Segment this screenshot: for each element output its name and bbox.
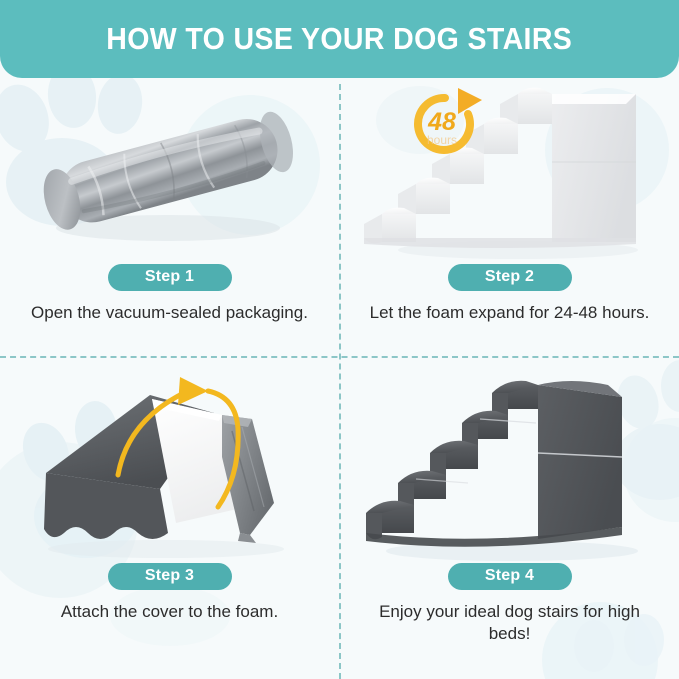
step-3-badge: Step 3	[108, 563, 232, 590]
cover-flap	[222, 415, 274, 535]
step-4-illustration	[340, 357, 679, 563]
timer-unit: hours	[427, 133, 457, 147]
foam-step-1	[364, 208, 416, 244]
divider-horizontal	[0, 356, 679, 358]
step-1-badge: Step 1	[108, 264, 232, 291]
step-2-illustration: 48 hours	[340, 78, 679, 264]
header-banner: HOW TO USE YOUR DOG STAIRS	[0, 0, 679, 78]
step-2-badge: Step 2	[448, 264, 572, 291]
stair-step-1	[366, 501, 414, 540]
divider-vertical	[339, 84, 341, 679]
step-1-caption: Open the vacuum-sealed packaging.	[25, 302, 315, 324]
stair-step-3	[430, 441, 478, 478]
step-panel-4: Step 4 Enjoy your ideal dog stairs for h…	[340, 357, 679, 679]
page-title: HOW TO USE YOUR DOG STAIRS	[107, 21, 573, 57]
stair-step-2	[398, 471, 468, 508]
step-3-illustration	[0, 357, 339, 563]
timer-48-hours-icon: 48 hours	[402, 84, 488, 156]
timer-number: 48	[427, 108, 456, 136]
step-panel-3: Step 3 Attach the cover to the foam.	[0, 357, 339, 679]
step-4-caption: Enjoy your ideal dog stairs for high bed…	[365, 601, 655, 646]
stairs-side-panel	[538, 385, 622, 539]
step-1-illustration	[0, 78, 339, 264]
stair-step-4	[462, 411, 536, 448]
vacuum-roll-body	[38, 108, 299, 234]
step-panel-2: 48 hours	[340, 78, 679, 378]
step-panel-1: Step 1 Open the vacuum-sealed packaging.	[0, 78, 339, 378]
step-4-badge: Step 4	[448, 563, 572, 590]
step-3-caption: Attach the cover to the foam.	[25, 601, 315, 623]
step-2-caption: Let the foam expand for 24-48 hours.	[365, 302, 655, 324]
infographic-root: HOW TO USE YOUR DOG STAIRS	[0, 0, 679, 679]
